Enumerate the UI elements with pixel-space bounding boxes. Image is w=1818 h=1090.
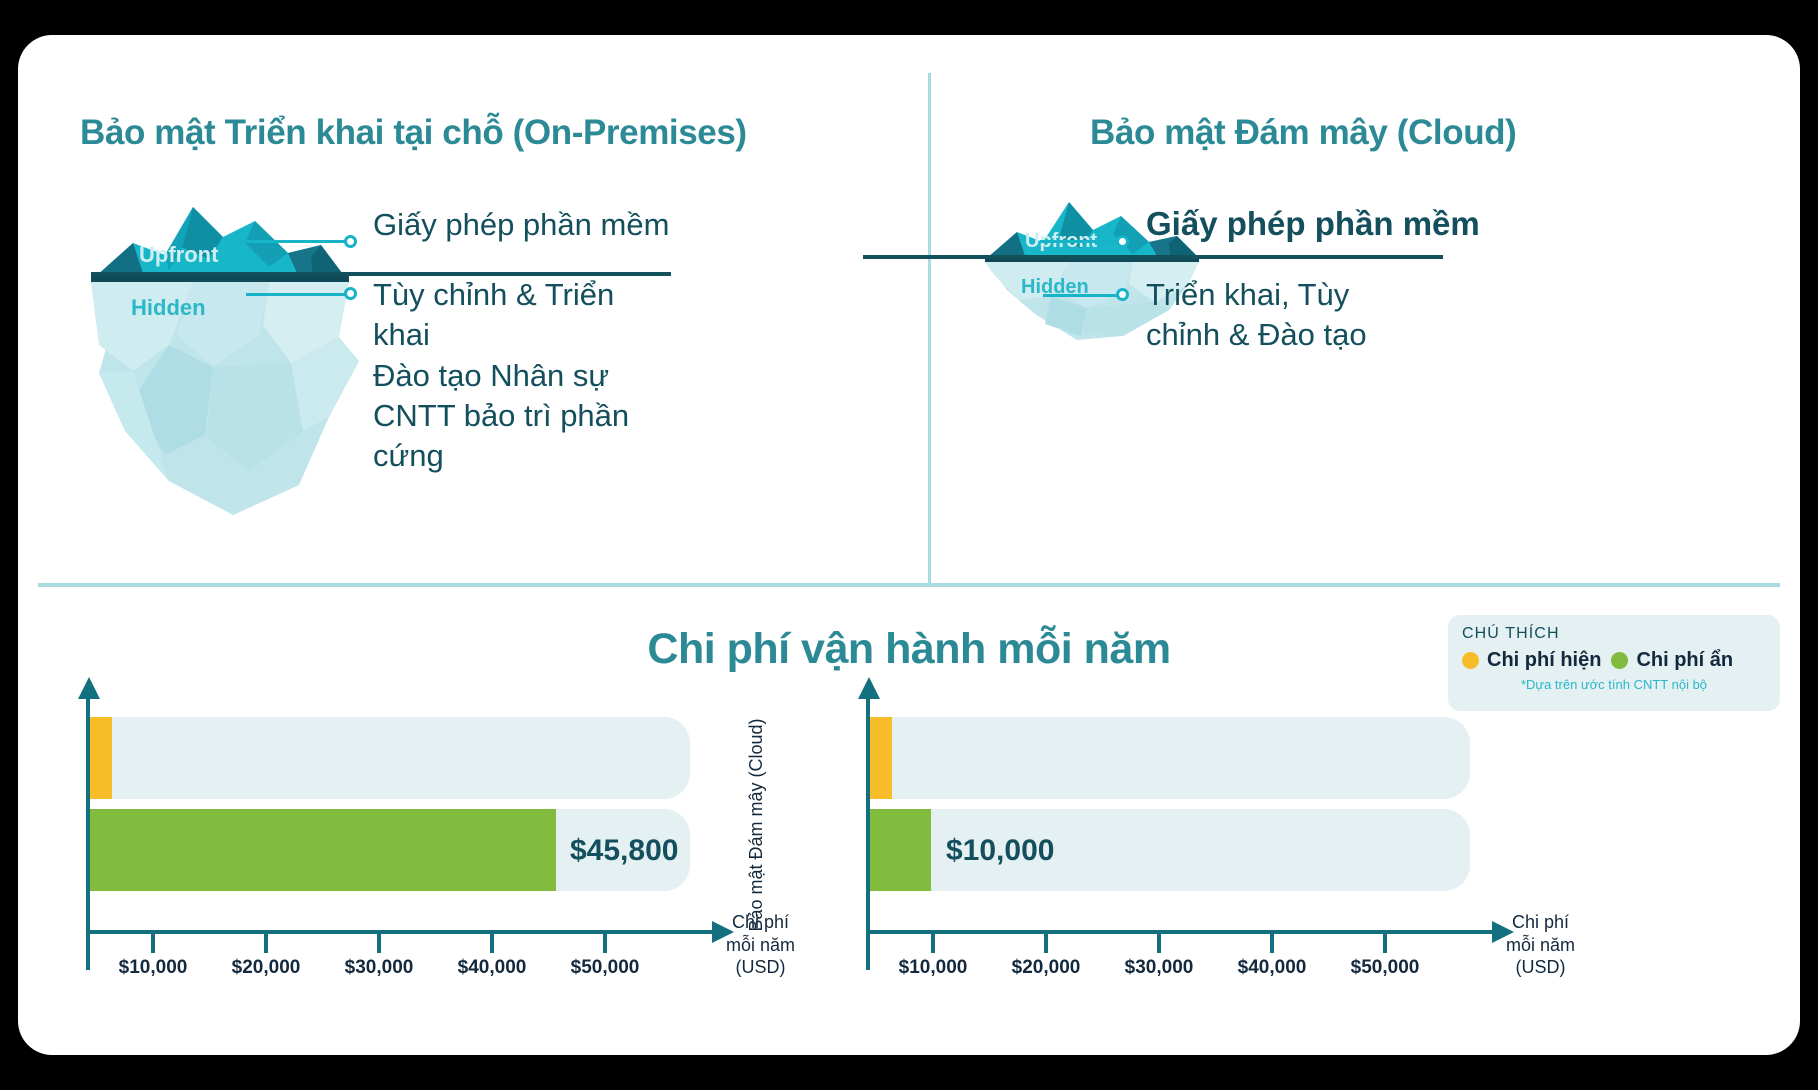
callout-hidden-cloud: Triển khai, Tùy chỉnh & Đào tạo <box>1146 275 1426 356</box>
x-tick-label-4-right: $40,000 <box>1238 957 1307 979</box>
callout-upfront-cloud: Giấy phép phần mềm <box>1146 203 1486 246</box>
x-tick-1-left <box>151 934 155 953</box>
x-tick-label-1-right: $10,000 <box>899 957 968 979</box>
horizontal-divider <box>38 583 1780 587</box>
leader-line-hidden-left <box>246 293 350 296</box>
x-axis-right <box>866 930 1496 934</box>
x-tick-2-left <box>264 934 268 953</box>
infographic-card: Bảo mật Triển khai tại chỗ (On-Premises) <box>18 35 1800 1055</box>
legend-item-hidden: Chi phí ẩn <box>1611 649 1733 672</box>
iceberg-onpremises: Upfront Hidden <box>73 185 393 515</box>
x-tick-label-3-left: $30,000 <box>345 957 414 979</box>
legend-title: CHÚ THÍCH <box>1462 625 1766 643</box>
leader-line-upfront-left <box>240 240 350 243</box>
callout-upfront-onpremises: Giấy phép phần mềm <box>373 205 693 245</box>
leader-line-upfront-right <box>1040 240 1122 243</box>
x-tick-1-right <box>931 934 935 953</box>
iceberg-onpremises-icon <box>73 185 393 515</box>
bar-value-hidden-right: $10,000 <box>946 834 1054 868</box>
x-tick-4-right <box>1270 934 1274 953</box>
waterline-right <box>863 255 1443 259</box>
leader-line-hidden-right <box>1043 294 1121 297</box>
legend-label-upfront: Chi phí hiện <box>1487 649 1601 672</box>
x-tick-2-right <box>1044 934 1048 953</box>
bar-upfront-left <box>90 717 112 799</box>
x-tick-label-1-left: $10,000 <box>119 957 188 979</box>
leader-dot-upfront-right <box>1116 235 1129 248</box>
chart-left: Bảo mật Đám mây (Cloud) Chi phí mỗi năm … <box>48 675 848 1035</box>
x-tick-label-3-right: $30,000 <box>1125 957 1194 979</box>
panel-title-onpremises: Bảo mật Triển khai tại chỗ (On-Premises) <box>80 113 747 153</box>
x-tick-label-2-right: $20,000 <box>1012 957 1081 979</box>
bar-value-hidden-left: $45,800 <box>570 834 678 868</box>
x-tick-3-right <box>1157 934 1161 953</box>
bar-hidden-right <box>870 809 931 891</box>
x-tick-3-left <box>377 934 381 953</box>
bar-upfront-right <box>870 717 892 799</box>
legend-items: Chi phí hiện Chi phí ẩn <box>1462 649 1766 672</box>
leader-dot-hidden-left <box>344 287 357 300</box>
bar-track-upfront-left <box>90 717 690 799</box>
bar-track-upfront-right <box>870 717 1470 799</box>
bar-hidden-left <box>90 809 556 891</box>
leader-dot-hidden-right <box>1116 288 1129 301</box>
x-tick-label-2-left: $20,000 <box>232 957 301 979</box>
x-axis-left <box>86 930 716 934</box>
legend-swatch-hidden-icon <box>1611 652 1628 669</box>
x-tick-5-right <box>1383 934 1387 953</box>
x-tick-4-left <box>490 934 494 953</box>
legend-item-upfront: Chi phí hiện <box>1462 649 1601 672</box>
chart-right: Bảo mật Đám mây (Cloud) Chi phí mỗi năm … <box>828 675 1628 1035</box>
x-axis-label-right: Chi phí mỗi năm (USD) <box>1506 911 1575 979</box>
x-tick-5-left <box>603 934 607 953</box>
x-tick-label-5-right: $50,000 <box>1351 957 1420 979</box>
page-root: Bảo mật Triển khai tại chỗ (On-Premises) <box>0 0 1818 1090</box>
x-tick-label-4-left: $40,000 <box>458 957 527 979</box>
panel-title-cloud: Bảo mật Đám mây (Cloud) <box>1090 113 1516 153</box>
callout-hidden-onpremises: Tùy chỉnh & Triển khai Đào tạo Nhân sự C… <box>373 275 673 476</box>
vertical-divider <box>928 73 931 583</box>
legend-swatch-upfront-icon <box>1462 652 1479 669</box>
legend-label-hidden: Chi phí ẩn <box>1636 649 1733 672</box>
leader-dot-upfront-left <box>344 235 357 248</box>
x-tick-label-5-left: $50,000 <box>571 957 640 979</box>
y-axis-label-right: Bảo mật Đám mây (Cloud) <box>746 705 767 945</box>
